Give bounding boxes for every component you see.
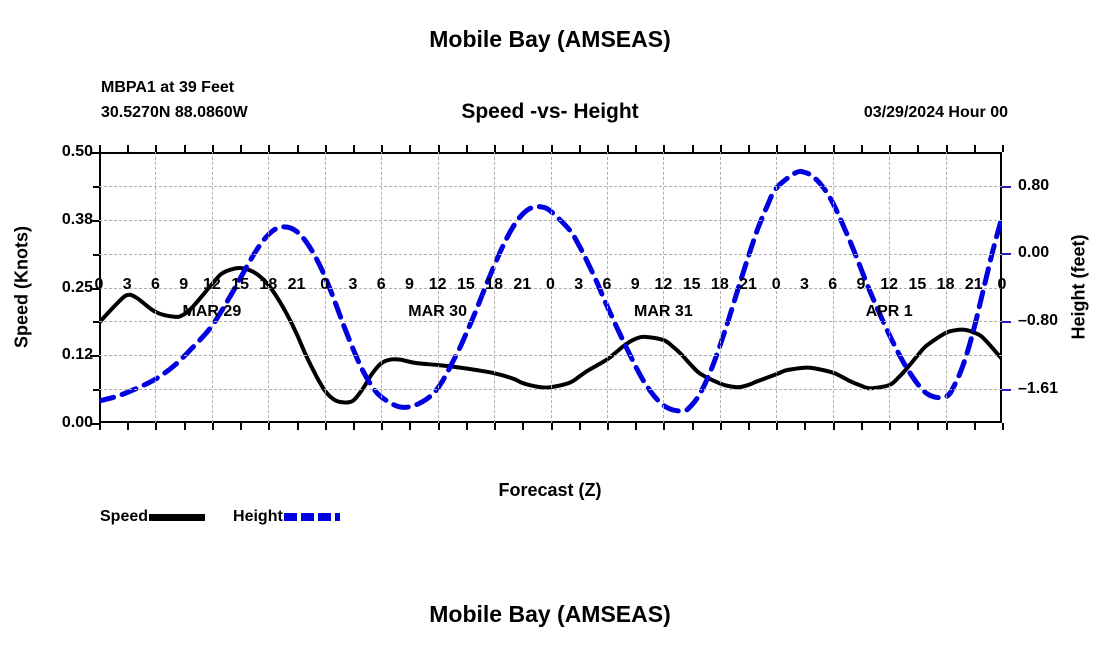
- x-axis-tick: [438, 145, 440, 152]
- x-axis-tick: [748, 423, 750, 430]
- x-axis-tick: [917, 145, 919, 152]
- x-axis-tick: [861, 145, 863, 152]
- x-axis-tick: [155, 145, 157, 152]
- x-axis-tick-label: 9: [856, 276, 865, 294]
- x-axis-tick: [946, 423, 948, 430]
- x-axis-day-label: APR 1: [866, 303, 913, 321]
- x-axis-tick-label: 9: [631, 276, 640, 294]
- y-axis-left-tick-label: 0.12: [62, 346, 93, 364]
- x-axis-tick: [409, 145, 411, 152]
- x-axis-tick: [1002, 423, 1004, 430]
- x-axis-tick: [607, 145, 609, 152]
- legend-swatch-height: [284, 513, 340, 521]
- x-axis-day-label: MAR 29: [183, 303, 242, 321]
- x-axis-tick-label: 12: [429, 276, 447, 294]
- x-axis-tick: [494, 423, 496, 430]
- x-axis-day-label: MAR 31: [634, 303, 693, 321]
- x-axis-tick-label: 12: [203, 276, 221, 294]
- x-axis-tick-label: 12: [654, 276, 672, 294]
- y-axis-left-tick: [93, 254, 99, 256]
- x-axis-tick: [155, 423, 157, 430]
- x-axis-tick-label: 15: [231, 276, 249, 294]
- x-axis-tick-label: 21: [513, 276, 531, 294]
- y-axis-right-tick-label: 0.80: [1018, 177, 1049, 195]
- x-axis-tick-label: 6: [377, 276, 386, 294]
- x-axis-tick-label: 0: [95, 276, 104, 294]
- x-axis-tick-label: 15: [457, 276, 475, 294]
- x-axis-tick: [833, 145, 835, 152]
- x-axis-tick-label: 3: [800, 276, 809, 294]
- x-axis-tick-label: 18: [711, 276, 729, 294]
- legend-swatch-speed: [149, 514, 205, 521]
- x-axis-tick: [240, 145, 242, 152]
- y-axis-right-title: Height (feet): [1069, 235, 1090, 340]
- y-axis-right-tick: [1002, 321, 1011, 323]
- y-axis-left-tick-label: 0.38: [62, 211, 93, 229]
- x-axis-tick: [325, 145, 327, 152]
- x-axis-tick: [635, 423, 637, 430]
- x-axis-tick: [692, 145, 694, 152]
- x-axis-tick: [889, 145, 891, 152]
- x-axis-tick: [889, 423, 891, 430]
- x-axis-tick: [720, 145, 722, 152]
- x-axis-tick: [99, 423, 101, 430]
- x-axis-tick: [833, 423, 835, 430]
- x-axis-tick: [663, 423, 665, 430]
- x-axis-tick-label: 15: [683, 276, 701, 294]
- x-axis-tick: [297, 423, 299, 430]
- x-axis-tick: [494, 145, 496, 152]
- x-axis-tick: [748, 145, 750, 152]
- x-axis-tick: [522, 145, 524, 152]
- gridline-horizontal: [99, 355, 1002, 356]
- x-axis-tick-label: 15: [908, 276, 926, 294]
- x-axis-tick: [804, 145, 806, 152]
- y-axis-left-tick: [93, 186, 99, 188]
- x-axis-day-label: MAR 30: [408, 303, 467, 321]
- x-axis-tick: [381, 423, 383, 430]
- x-axis-tick: [184, 423, 186, 430]
- x-axis-tick-label: 0: [320, 276, 329, 294]
- x-axis-tick-label: 18: [259, 276, 277, 294]
- chart-legend: Speed Height: [100, 508, 340, 526]
- y-axis-right-tick: [1002, 389, 1011, 391]
- y-axis-left-tick-label: 0.00: [62, 414, 93, 432]
- page-title-bottom: Mobile Bay (AMSEAS): [0, 601, 1100, 628]
- x-axis-tick: [268, 423, 270, 430]
- x-axis-tick-label: 6: [828, 276, 837, 294]
- x-axis-tick: [861, 423, 863, 430]
- y-axis-left-tick-label: 0.50: [62, 143, 93, 161]
- x-axis-tick-label: 21: [288, 276, 306, 294]
- x-axis-tick: [522, 423, 524, 430]
- x-axis-tick: [692, 423, 694, 430]
- y-axis-right-tick-label: –1.61: [1018, 380, 1058, 398]
- x-axis-tick-label: 0: [998, 276, 1007, 294]
- x-axis-tick: [1002, 145, 1004, 152]
- x-axis-tick-label: 9: [405, 276, 414, 294]
- model-run-datetime: 03/29/2024 Hour 00: [864, 104, 1008, 122]
- x-axis-title: Forecast (Z): [0, 480, 1100, 501]
- x-axis-tick: [325, 423, 327, 430]
- x-axis-tick: [240, 423, 242, 430]
- x-axis-tick-label: 12: [880, 276, 898, 294]
- x-axis-tick: [268, 145, 270, 152]
- x-axis-tick: [297, 145, 299, 152]
- x-axis-tick: [917, 423, 919, 430]
- y-axis-right-tick: [1002, 186, 1011, 188]
- gridline-horizontal: [99, 389, 1002, 390]
- x-axis-tick-label: 0: [546, 276, 555, 294]
- x-axis-tick: [212, 145, 214, 152]
- gridline-horizontal: [99, 321, 1002, 322]
- x-axis-tick: [946, 145, 948, 152]
- y-axis-left-tick: [93, 321, 99, 323]
- x-axis-tick: [353, 423, 355, 430]
- x-axis-tick-label: 9: [179, 276, 188, 294]
- x-axis-tick: [99, 145, 101, 152]
- x-axis-tick-label: 6: [602, 276, 611, 294]
- x-axis-tick-label: 21: [965, 276, 983, 294]
- x-axis-tick: [551, 145, 553, 152]
- x-axis-tick: [804, 423, 806, 430]
- x-axis-tick-label: 0: [772, 276, 781, 294]
- x-axis-tick: [438, 423, 440, 430]
- x-axis-tick: [353, 145, 355, 152]
- x-axis-tick: [127, 145, 129, 152]
- gridline-horizontal: [99, 186, 1002, 187]
- x-axis-tick: [409, 423, 411, 430]
- x-axis-tick: [466, 145, 468, 152]
- x-axis-tick: [607, 423, 609, 430]
- x-axis-tick: [635, 145, 637, 152]
- x-axis-tick-label: 6: [151, 276, 160, 294]
- x-axis-tick: [663, 145, 665, 152]
- gridline-horizontal: [99, 254, 1002, 255]
- x-axis-tick: [127, 423, 129, 430]
- x-axis-tick-label: 18: [485, 276, 503, 294]
- x-axis-tick: [776, 423, 778, 430]
- x-axis-tick: [974, 423, 976, 430]
- x-axis-tick-label: 3: [574, 276, 583, 294]
- x-axis-tick-label: 3: [123, 276, 132, 294]
- x-axis-tick-label: 3: [349, 276, 358, 294]
- x-axis-tick: [381, 145, 383, 152]
- x-axis-tick-label: 21: [739, 276, 757, 294]
- y-axis-right-tick-label: –0.80: [1018, 312, 1058, 330]
- legend-label-speed: Speed: [100, 508, 148, 526]
- page-title-top: Mobile Bay (AMSEAS): [0, 26, 1100, 53]
- x-axis-tick: [466, 423, 468, 430]
- legend-label-height: Height: [233, 508, 283, 526]
- x-axis-tick: [974, 145, 976, 152]
- station-name-depth: MBPA1 at 39 Feet: [101, 75, 248, 100]
- x-axis-tick: [776, 145, 778, 152]
- x-axis-tick: [551, 423, 553, 430]
- x-axis-tick: [212, 423, 214, 430]
- x-axis-tick: [579, 145, 581, 152]
- y-axis-left-tick: [93, 389, 99, 391]
- x-axis-tick: [579, 423, 581, 430]
- gridline-horizontal: [99, 220, 1002, 221]
- x-axis-tick-label: 18: [937, 276, 955, 294]
- x-axis-tick: [184, 145, 186, 152]
- x-axis-tick: [720, 423, 722, 430]
- y-axis-left-title: Speed (Knots): [12, 226, 33, 348]
- y-axis-right-tick-label: 0.00: [1018, 244, 1049, 262]
- y-axis-right-tick: [1002, 253, 1011, 255]
- y-axis-left-tick-label: 0.25: [62, 279, 93, 297]
